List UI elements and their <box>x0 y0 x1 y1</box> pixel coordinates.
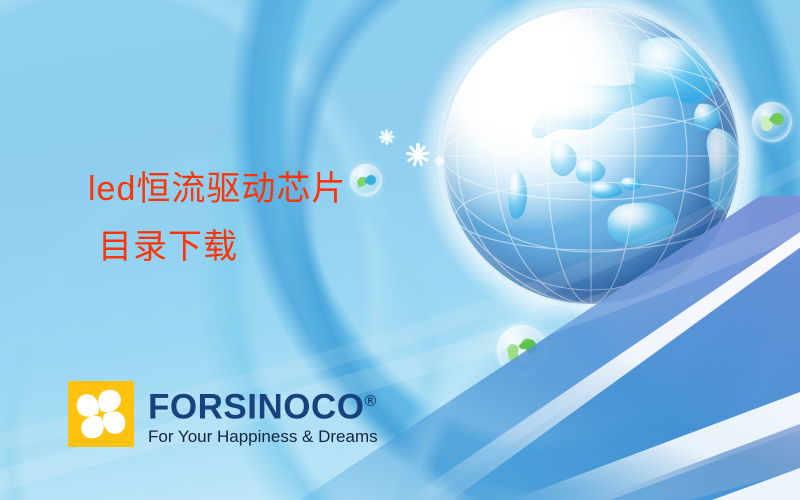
logo-text-block: FORSINOCO® For Your Happiness & Dreams <box>148 381 378 448</box>
brand-word: FORSINOCO <box>148 388 364 427</box>
company-logo[interactable]: FORSINOCO® For Your Happiness & Dreams <box>68 381 378 448</box>
headline: led恒流驱动芯片 目录下载 <box>0 160 420 276</box>
brand-name: FORSINOCO® <box>148 383 378 427</box>
headline-line-2: 目录下载 <box>0 218 420 276</box>
promotional-banner: led恒流驱动芯片 目录下载 FORSINOCO® For Your Happi… <box>0 0 800 500</box>
headline-line-1: led恒流驱动芯片 <box>0 160 420 218</box>
brand-tagline: For Your Happiness & Dreams <box>148 426 378 448</box>
four-petal-pinwheel-icon <box>68 381 134 447</box>
trademark-symbol: ® <box>364 393 376 410</box>
